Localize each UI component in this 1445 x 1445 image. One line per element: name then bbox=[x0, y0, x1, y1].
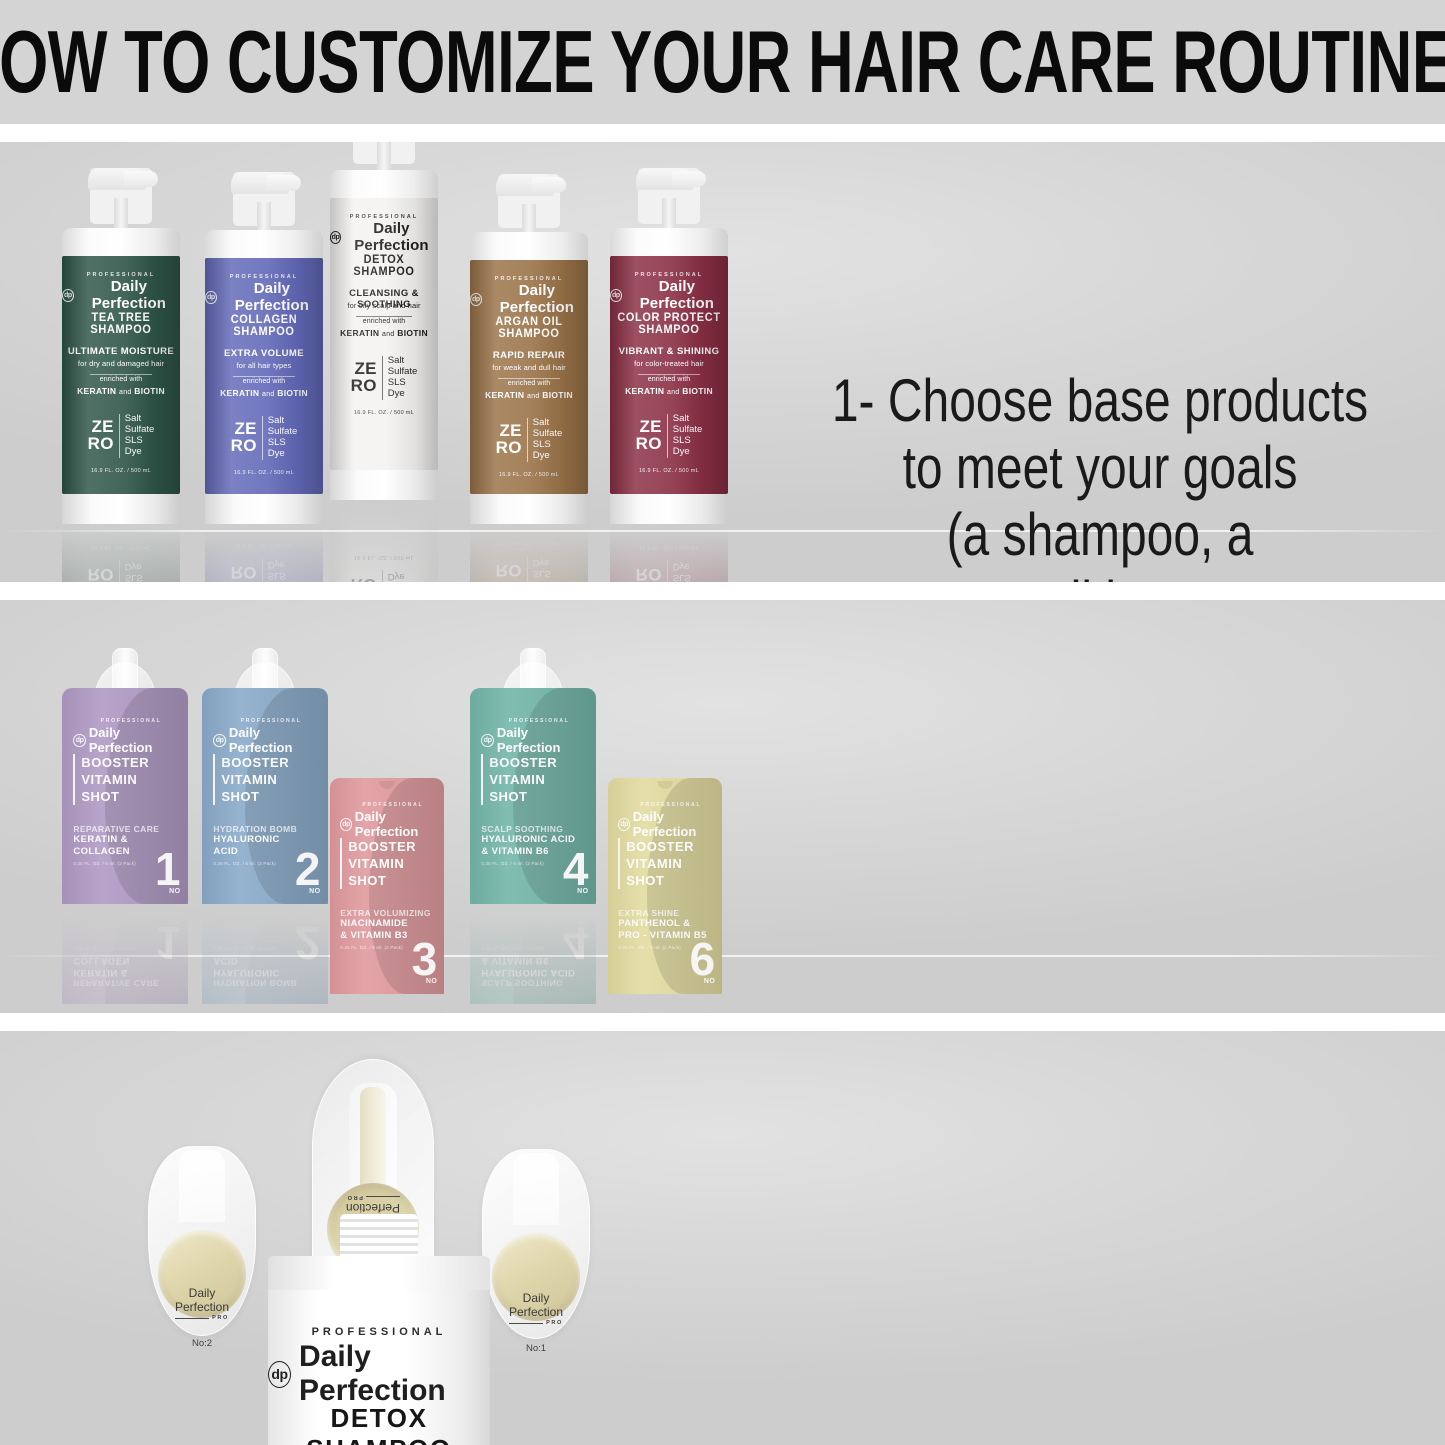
step-1-text: 1- Choose base products to meet your goa… bbox=[828, 367, 1372, 582]
sachet-professional-text: PROFESSIONAL bbox=[487, 718, 591, 724]
sachet-brand-name: Daily Perfection bbox=[89, 725, 183, 755]
dp-logo-icon: dp bbox=[481, 734, 494, 747]
step-1-panel: PROFESSIONAL dp Daily Perfection TEA TRE… bbox=[0, 142, 1445, 582]
zero-divider bbox=[527, 418, 528, 462]
capsule-brand-line-2: Perfection bbox=[148, 1300, 256, 1314]
label-wave-shape bbox=[513, 688, 596, 904]
dp-logo-icon: dp bbox=[205, 291, 217, 304]
booster-volume: 0.25 FL. OZ. / 6 ml. (2 Pack) bbox=[73, 946, 176, 951]
zero-items: SaltSulfateSLSDye bbox=[125, 560, 155, 582]
booster-no-label: NO bbox=[155, 889, 181, 895]
sachet-brand-row: dp Daily Perfection bbox=[340, 809, 439, 839]
bottle-volume: 16.9 FL. OZ. / 500 mL bbox=[470, 540, 588, 546]
label-wave-shape bbox=[647, 998, 722, 1013]
sachet-card: PROFESSIONAL dp Daily Perfection BOOSTER… bbox=[62, 688, 188, 904]
capsule-brand-text: Daily Perfection PRO bbox=[482, 1291, 590, 1327]
booster-number: 2NO bbox=[295, 850, 321, 895]
sachet-brand-row: dp Daily Perfection bbox=[213, 725, 323, 755]
booster-number: 6NO bbox=[690, 940, 716, 985]
sachet-brand-block: PROFESSIONAL dp Daily Perfection bbox=[213, 718, 323, 755]
sachet-brand-name: Daily Perfection bbox=[497, 725, 591, 755]
sachet-brand-block: PROFESSIONAL dp Daily Perfection bbox=[73, 718, 183, 755]
bottle-claim: VIBRANT & SHINING bbox=[610, 346, 728, 357]
bottle-neck bbox=[662, 198, 676, 232]
booster-benefit-block: EXTRA VOLUMIZING NIACINAMIDE& VITAMIN B3… bbox=[340, 908, 433, 950]
bottle-enriched-label: enriched with bbox=[205, 378, 323, 385]
booster-ingredients: PANTHENOL &PRO - VITAMIN B5 bbox=[618, 918, 711, 943]
bottle-neck bbox=[114, 198, 128, 232]
sachet-reflection: PROFESSIONAL dp Daily Perfection BOOSTER… bbox=[470, 908, 596, 1004]
booster-title-block: BOOSTER VITAMIN SHOT bbox=[73, 754, 176, 805]
booster-title-line-2: VITAMIN bbox=[81, 771, 176, 788]
sachet-card: PROFESSIONAL dp Daily Perfection BOOSTER… bbox=[608, 778, 722, 994]
hang-hole-notch bbox=[657, 781, 673, 789]
bottle-label-body: PROFESSIONAL dp Daily Perfection TEA TRE… bbox=[62, 256, 180, 494]
bottle-base bbox=[470, 494, 588, 524]
zero-items: SaltSulfateSLSDye bbox=[533, 556, 563, 582]
dp-logo-icon: dp bbox=[62, 289, 74, 302]
page-title: HOW TO CUSTOMIZE YOUR HAIR CARE ROUTINE? bbox=[0, 11, 1445, 112]
bottle-zero-block: ZERO SaltSulfateSLSDye bbox=[62, 414, 180, 458]
booster-benefit: HYDRATION BOMB bbox=[213, 978, 316, 988]
label-wave-shape bbox=[513, 908, 596, 1004]
booster-volume: 0.25 FL. OZ. / 6 ml. (2 Pack) bbox=[73, 861, 176, 866]
capsule-number: No:1 bbox=[482, 1343, 590, 1354]
bottle-actives: KERATIN and BIOTIN bbox=[330, 328, 438, 338]
booster-volume: 0.25 FL. OZ. / 6 ml. (2 Pack) bbox=[213, 946, 316, 951]
capsule-number: No:2 bbox=[148, 1338, 256, 1349]
booster-benefit: REPARATIVE CARE bbox=[73, 824, 176, 834]
zero-word: ZERO bbox=[636, 566, 662, 583]
bottle-brand-row: dp Daily Perfection bbox=[330, 220, 438, 254]
dp-logo-icon: dp bbox=[213, 734, 226, 747]
zero-word: ZERO bbox=[88, 419, 114, 452]
bottle-subclaim: for oily scalp and hair bbox=[330, 301, 438, 312]
bottle-brand-row: dp Daily Perfection bbox=[62, 278, 180, 312]
booster-title-block: BOOSTER VITAMIN SHOT bbox=[481, 754, 584, 805]
label-wave-shape bbox=[105, 908, 188, 1004]
booster-sachet-6[interactable]: PROFESSIONAL dp Daily Perfection BOOSTER… bbox=[608, 778, 722, 1013]
booster-benefit-block: HYDRATION BOMB HYALURONICACID 0.25 FL. O… bbox=[213, 946, 316, 988]
booster-no-label: NO bbox=[563, 917, 589, 923]
zero-divider bbox=[262, 558, 263, 582]
sachet-professional-text: PROFESSIONAL bbox=[346, 802, 439, 808]
booster-benefit: SCALP SOOTHING bbox=[481, 824, 584, 834]
bottle-reflection: PROFESSIONAL dp Daily Perfection ARGAN O… bbox=[470, 524, 588, 582]
booster-ingredients: HYALURONIC ACID& VITAMIN B6 bbox=[481, 953, 584, 978]
booster-capsule-No-1[interactable]: Daily Perfection PRO No:1 bbox=[482, 1149, 590, 1339]
capsule-tab bbox=[179, 1150, 225, 1222]
booster-number: 1NO bbox=[155, 917, 181, 962]
booster-title-line-1: BOOSTER bbox=[489, 754, 584, 771]
booster-benefit: SCALP SOOTHING bbox=[481, 978, 584, 988]
bottle-base bbox=[205, 494, 323, 524]
bottle-product-name: DETOX SHAMPOO bbox=[268, 1403, 490, 1445]
bottle-zero-block: ZERO SaltSulfateSLSDye bbox=[610, 414, 728, 458]
zero-divider bbox=[119, 414, 120, 458]
sachet-reflection: PROFESSIONAL dp Daily Perfection BOOSTER… bbox=[330, 998, 444, 1013]
bottle-brand-row: dp Daily Perfection bbox=[610, 278, 728, 312]
bottle-1[interactable]: PROFESSIONAL dp Daily Perfection TEA TRE… bbox=[62, 228, 180, 530]
bottle-brand-row: dp Daily Perfection bbox=[268, 1340, 490, 1408]
booster-sachet-4[interactable]: DailyPerfection PROFESSIONAL dp Daily Pe… bbox=[470, 688, 596, 964]
bottle-volume: 16.9 FL. OZ. / 500 mL bbox=[610, 468, 728, 474]
bottle-actives: KERATIN and BIOTIN bbox=[610, 386, 728, 396]
dp-logo-icon: dp bbox=[470, 293, 482, 306]
bottle-label-body: PROFESSIONAL dp Daily Perfection COLLAGE… bbox=[205, 258, 323, 494]
zero-word: ZERO bbox=[496, 423, 522, 456]
zero-word: ZERO bbox=[351, 361, 377, 394]
zero-items: SaltSulfateSLSDye bbox=[388, 356, 418, 400]
sachet-card: PROFESSIONAL dp Daily Perfection BOOSTER… bbox=[202, 688, 328, 904]
booster-sachet-2[interactable]: DailyPerfection PROFESSIONAL dp Daily Pe… bbox=[202, 688, 328, 964]
capsule-tab bbox=[513, 1153, 559, 1225]
booster-title-line-3: SHOT bbox=[81, 788, 176, 805]
bottle-5[interactable]: PROFESSIONAL dp Daily Perfection COLOR P… bbox=[610, 228, 728, 530]
booster-title-block: BOOSTER VITAMIN SHOT bbox=[618, 838, 711, 889]
bottle-base bbox=[610, 494, 728, 524]
zero-items: SaltSulfateSLSDye bbox=[388, 570, 418, 582]
sachet-brand-block: PROFESSIONAL dp Daily Perfection bbox=[481, 718, 591, 755]
label-wave-shape bbox=[369, 998, 444, 1013]
dp-logo-icon: dp bbox=[610, 289, 622, 302]
bottle-base bbox=[330, 470, 438, 500]
booster-title-line-2: VITAMIN bbox=[348, 855, 433, 872]
booster-title-block: BOOSTER VITAMIN SHOT bbox=[340, 838, 433, 889]
booster-benefit-block: REPARATIVE CARE KERATIN &COLLAGEN 0.25 F… bbox=[73, 824, 176, 866]
zero-items: SaltSulfateSLSDye bbox=[533, 418, 563, 462]
sachet-professional-text: PROFESSIONAL bbox=[219, 718, 323, 724]
bottle-volume: 16.9 FL. OZ. / 500 mL bbox=[62, 468, 180, 474]
booster-ingredients: KERATIN &COLLAGEN bbox=[73, 953, 176, 978]
booster-capsule-No-2[interactable]: Daily Perfection PRO No:2 bbox=[148, 1146, 256, 1336]
bottle-reflection: PROFESSIONAL dp Daily Perfection DETOX S… bbox=[330, 500, 438, 582]
booster-ingredients: HYALURONIC ACID& VITAMIN B6 bbox=[481, 834, 584, 859]
booster-benefit-block: REPARATIVE CARE KERATIN &COLLAGEN 0.25 F… bbox=[73, 946, 176, 988]
booster-ingredients: NIACINAMIDE& VITAMIN B3 bbox=[340, 918, 433, 943]
sachet-card: PROFESSIONAL dp Daily Perfection BOOSTER… bbox=[470, 688, 596, 904]
bottle-zero-block: ZERO SaltSulfateSLSDye bbox=[62, 560, 180, 582]
booster-benefit: HYDRATION BOMB bbox=[213, 824, 316, 834]
zero-word: ZERO bbox=[231, 421, 257, 454]
dp-logo-icon: dp bbox=[330, 231, 341, 244]
bottle-enriched-label: enriched with bbox=[330, 318, 438, 325]
booster-no-label: NO bbox=[412, 979, 438, 985]
zero-word: ZERO bbox=[231, 564, 257, 583]
booster-number: 3NO bbox=[412, 1007, 438, 1013]
label-wave-shape bbox=[245, 908, 328, 1004]
step-2-panel: DailyPerfection PROFESSIONAL dp Daily Pe… bbox=[0, 600, 1445, 1013]
bottle-zero-block: ZERO SaltSulfateSLSDye bbox=[205, 416, 323, 460]
booster-title-line-3: SHOT bbox=[221, 788, 316, 805]
bottle-subclaim: for weak and dull hair bbox=[470, 363, 588, 374]
booster-volume: 0.25 FL. OZ. / 6 ml. (2 Pack) bbox=[618, 945, 711, 950]
booster-ingredients: HYALURONICACID bbox=[213, 953, 316, 978]
sachet-professional-text: PROFESSIONAL bbox=[79, 718, 183, 724]
bottle-volume: 16.9 FL. OZ. / 500 mL bbox=[62, 544, 180, 550]
bottle-brand-name: Daily Perfection bbox=[299, 1340, 490, 1408]
zero-divider bbox=[382, 356, 383, 400]
zero-divider bbox=[667, 560, 668, 582]
booster-no-label: NO bbox=[563, 889, 589, 895]
sachet-brand-block: PROFESSIONAL dp Daily Perfection bbox=[618, 802, 717, 839]
bottle-shoulder bbox=[268, 1256, 490, 1294]
booster-no-label: NO bbox=[412, 1007, 438, 1013]
zero-word: ZERO bbox=[351, 576, 377, 583]
bottle-enriched-label: enriched with bbox=[62, 376, 180, 383]
zero-divider bbox=[382, 570, 383, 582]
sachet-brand-row: dp Daily Perfection bbox=[481, 725, 591, 755]
sachet-brand-row: dp Daily Perfection bbox=[73, 725, 183, 755]
booster-number: 1NO bbox=[155, 850, 181, 895]
booster-title-line-3: SHOT bbox=[489, 788, 584, 805]
capsule-brand-line-2: Perfection bbox=[482, 1305, 590, 1319]
bottle-product-name: TEA TREE SHAMPOO bbox=[65, 312, 177, 336]
booster-title-block: BOOSTER VITAMIN SHOT bbox=[213, 754, 316, 805]
label-wave-shape bbox=[245, 688, 328, 904]
booster-volume: 0.25 FL. OZ. / 6 ml. (2 Pack) bbox=[213, 861, 316, 866]
sachet-reflection: PROFESSIONAL dp Daily Perfection BOOSTER… bbox=[62, 908, 188, 1004]
booster-number: 3NO bbox=[412, 940, 438, 985]
booster-title-line-1: BOOSTER bbox=[348, 838, 433, 855]
header-banner: HOW TO CUSTOMIZE YOUR HAIR CARE ROUTINE? bbox=[0, 0, 1445, 124]
capsule-pro-label: PRO bbox=[312, 1193, 434, 1199]
bottle-actives: KERATIN and BIOTIN bbox=[62, 386, 180, 396]
dp-logo-icon: dp bbox=[73, 734, 86, 747]
sachet-brand-block: PROFESSIONAL dp Daily Perfection bbox=[340, 802, 439, 839]
bottle-professional-text: PROFESSIONAL bbox=[268, 1326, 490, 1338]
zero-divider bbox=[262, 416, 263, 460]
zero-items: SaltSulfateSLSDye bbox=[125, 414, 155, 458]
bottle-zero-block: ZERO SaltSulfateSLSDye bbox=[205, 558, 323, 582]
bottle-volume: 16.9 FL. OZ. / 500 mL bbox=[330, 554, 438, 560]
sachet-brand-name: Daily Perfection bbox=[633, 809, 718, 839]
bottle-brand-name: Daily Perfection bbox=[626, 278, 728, 312]
booster-no-label: NO bbox=[295, 917, 321, 923]
zero-items: SaltSulfateSLSDye bbox=[268, 558, 298, 582]
booster-number: 6NO bbox=[690, 1007, 716, 1013]
sachet-card: PROFESSIONAL dp Daily Perfection BOOSTER… bbox=[330, 778, 444, 994]
bottle-reflection: PROFESSIONAL dp Daily Perfection COLLAGE… bbox=[205, 524, 323, 582]
zero-word: ZERO bbox=[496, 562, 522, 583]
booster-benefit-block: EXTRA SHINE PANTHENOL &PRO - VITAMIN B5 … bbox=[618, 908, 711, 950]
bottle-brand-row: dp Daily Perfection bbox=[205, 280, 323, 314]
booster-title-line-1: BOOSTER bbox=[221, 754, 316, 771]
booster-no-label: NO bbox=[295, 889, 321, 895]
bottle-enriched-label: enriched with bbox=[610, 376, 728, 383]
sachet-brand-name: Daily Perfection bbox=[229, 725, 323, 755]
booster-benefit: EXTRA SHINE bbox=[618, 908, 711, 918]
bottle-subclaim: for color-treated hair bbox=[610, 359, 728, 370]
bottle-volume: 16.9 FL. OZ. / 500 mL bbox=[610, 544, 728, 550]
sachet-reflection: PROFESSIONAL dp Daily Perfection BOOSTER… bbox=[608, 998, 722, 1013]
booster-volume: 0.25 FL. OZ. / 6 ml. (2 Pack) bbox=[481, 861, 584, 866]
zero-items: SaltSulfateSLSDye bbox=[673, 560, 703, 582]
bottle-product-name: COLLAGEN SHAMPOO bbox=[208, 314, 320, 338]
zero-divider bbox=[119, 560, 120, 582]
booster-sachet-3[interactable]: PROFESSIONAL dp Daily Perfection BOOSTER… bbox=[330, 778, 444, 1013]
capsule-pro-label: PRO bbox=[482, 1320, 590, 1326]
bottle-brand-name: Daily Perfection bbox=[221, 280, 323, 314]
capsule-pro-label: PRO bbox=[148, 1315, 256, 1321]
bottle-volume: 16.9 FL. OZ. / 500 mL bbox=[330, 410, 438, 416]
zero-divider bbox=[667, 414, 668, 458]
booster-title-line-2: VITAMIN bbox=[221, 771, 316, 788]
bottle-zero-block: ZERO SaltSulfateSLSDye bbox=[330, 356, 438, 400]
booster-ingredients: KERATIN &COLLAGEN bbox=[73, 834, 176, 859]
detox-shampoo-bottle: PROFESSIONAL dp Daily Perfection DETOX S… bbox=[268, 1256, 490, 1445]
bottle-label-body: PROFESSIONAL dp Daily Perfection ARGAN O… bbox=[470, 260, 588, 494]
bottle-3[interactable]: PROFESSIONAL dp Daily Perfection DETOX S… bbox=[330, 170, 438, 506]
bottle-zero-block: ZERO SaltSulfateSLSDye bbox=[470, 556, 588, 582]
booster-title-line-3: SHOT bbox=[348, 872, 433, 889]
bottle-actives: KERATIN and BIOTIN bbox=[470, 390, 588, 400]
zero-divider bbox=[527, 556, 528, 582]
bottle-2[interactable]: PROFESSIONAL dp Daily Perfection COLLAGE… bbox=[205, 230, 323, 530]
booster-benefit-block: HYDRATION BOMB HYALURONICACID 0.25 FL. O… bbox=[213, 824, 316, 866]
sachet-professional-text: PROFESSIONAL bbox=[624, 802, 717, 808]
zero-word: ZERO bbox=[636, 419, 662, 452]
capsule-brand-line-1: Daily bbox=[148, 1286, 256, 1300]
dp-logo-icon: dp bbox=[618, 818, 629, 831]
bottle-brand-row: dp Daily Perfection bbox=[470, 282, 588, 316]
zero-word: ZERO bbox=[88, 566, 114, 583]
bottle-actives: KERATIN and BIOTIN bbox=[205, 388, 323, 398]
booster-benefit-block: SCALP SOOTHING HYALURONIC ACID& VITAMIN … bbox=[481, 946, 584, 988]
bottle-brand-name: Daily Perfection bbox=[78, 278, 180, 312]
bottle-volume: 16.9 FL. OZ. / 500 mL bbox=[470, 472, 588, 478]
bottle-product-name: ARGAN OIL SHAMPOO bbox=[473, 316, 585, 340]
bottle-reflection: PROFESSIONAL dp Daily Perfection TEA TRE… bbox=[62, 524, 180, 582]
booster-no-label: NO bbox=[155, 917, 181, 923]
bottle-enriched-label: enriched with bbox=[470, 380, 588, 387]
bottle-label-body: PROFESSIONAL dp Daily Perfection COLOR P… bbox=[610, 256, 728, 494]
bottle-subclaim: for dry and damaged hair bbox=[62, 359, 180, 370]
bottle-brand-name: Daily Perfection bbox=[345, 220, 438, 254]
booster-no-label: NO bbox=[690, 1007, 716, 1013]
booster-benefit: REPARATIVE CARE bbox=[73, 978, 176, 988]
sachet-reflection: PROFESSIONAL dp Daily Perfection BOOSTER… bbox=[202, 908, 328, 1004]
bottle-zero-block: ZERO SaltSulfateSLSDye bbox=[610, 560, 728, 582]
sachet-brand-row: dp Daily Perfection bbox=[618, 809, 717, 839]
bottle-reflection: PROFESSIONAL dp Daily Perfection COLOR P… bbox=[610, 524, 728, 582]
bottle-claim: ULTIMATE MOISTURE bbox=[62, 346, 180, 357]
label-wave-shape bbox=[647, 778, 722, 994]
bottle-base bbox=[62, 494, 180, 524]
booster-title-line-1: BOOSTER bbox=[81, 754, 176, 771]
bottle-claim: RAPID REPAIR bbox=[470, 350, 588, 361]
sachet-brand-name: Daily Perfection bbox=[355, 809, 440, 839]
label-wave-shape bbox=[369, 778, 444, 994]
booster-title-line-2: VITAMIN bbox=[626, 855, 711, 872]
booster-number: 4NO bbox=[563, 850, 589, 895]
dp-logo-icon: dp bbox=[268, 1361, 291, 1388]
booster-ingredients: HYALURONICACID bbox=[213, 834, 316, 859]
bottle-zero-block: ZERO SaltSulfateSLSDye bbox=[330, 570, 438, 582]
bottle-subclaim: for all hair types bbox=[205, 361, 323, 372]
bottle-product-name: COLOR PROTECT SHAMPOO bbox=[613, 312, 725, 336]
bottle-label-body: PROFESSIONAL dp Daily Perfection DETOX S… bbox=[330, 198, 438, 470]
booster-benefit: EXTRA VOLUMIZING bbox=[340, 908, 433, 918]
bottle-4[interactable]: PROFESSIONAL dp Daily Perfection ARGAN O… bbox=[470, 232, 588, 530]
booster-number: 2NO bbox=[295, 917, 321, 962]
capsule-brand-line-2: Perfection bbox=[312, 1201, 434, 1215]
hang-hole-notch bbox=[379, 781, 395, 789]
bottle-volume: 16.9 FL. OZ. / 500 mL bbox=[205, 470, 323, 476]
booster-volume: 0.25 FL. OZ. / 6 ml. (2 Pack) bbox=[340, 945, 433, 950]
bottle-product-name: DETOX SHAMPOO bbox=[333, 254, 436, 278]
capsule-brand-line-1: Daily bbox=[482, 1291, 590, 1305]
booster-volume: 0.25 FL. OZ. / 6 ml. (2 Pack) bbox=[481, 946, 584, 951]
booster-no-label: NO bbox=[690, 979, 716, 985]
booster-title-line-2: VITAMIN bbox=[489, 771, 584, 788]
booster-benefit-block: SCALP SOOTHING HYALURONIC ACID& VITAMIN … bbox=[481, 824, 584, 866]
capsule-brand-text: Daily Perfection PRO bbox=[148, 1286, 256, 1322]
step-3-panel: Daily Perfection PRO No:2 Daily Perfecti… bbox=[0, 1031, 1445, 1445]
label-wave-shape bbox=[105, 688, 188, 904]
bottle-claim: EXTRA VOLUME bbox=[205, 348, 323, 359]
bottle-brand-name: Daily Perfection bbox=[486, 282, 588, 316]
booster-title-line-1: BOOSTER bbox=[626, 838, 711, 855]
bottle-volume: 16.9 FL. OZ. / 500 mL bbox=[205, 542, 323, 548]
zero-items: SaltSulfateSLSDye bbox=[673, 414, 703, 458]
booster-sachet-1[interactable]: DailyPerfection PROFESSIONAL dp Daily Pe… bbox=[62, 688, 188, 964]
bottle-zero-block: ZERO SaltSulfateSLSDye bbox=[470, 418, 588, 462]
booster-title-line-3: SHOT bbox=[626, 872, 711, 889]
zero-items: SaltSulfateSLSDye bbox=[268, 416, 298, 460]
dp-logo-icon: dp bbox=[340, 818, 351, 831]
booster-number: 4NO bbox=[563, 917, 589, 962]
